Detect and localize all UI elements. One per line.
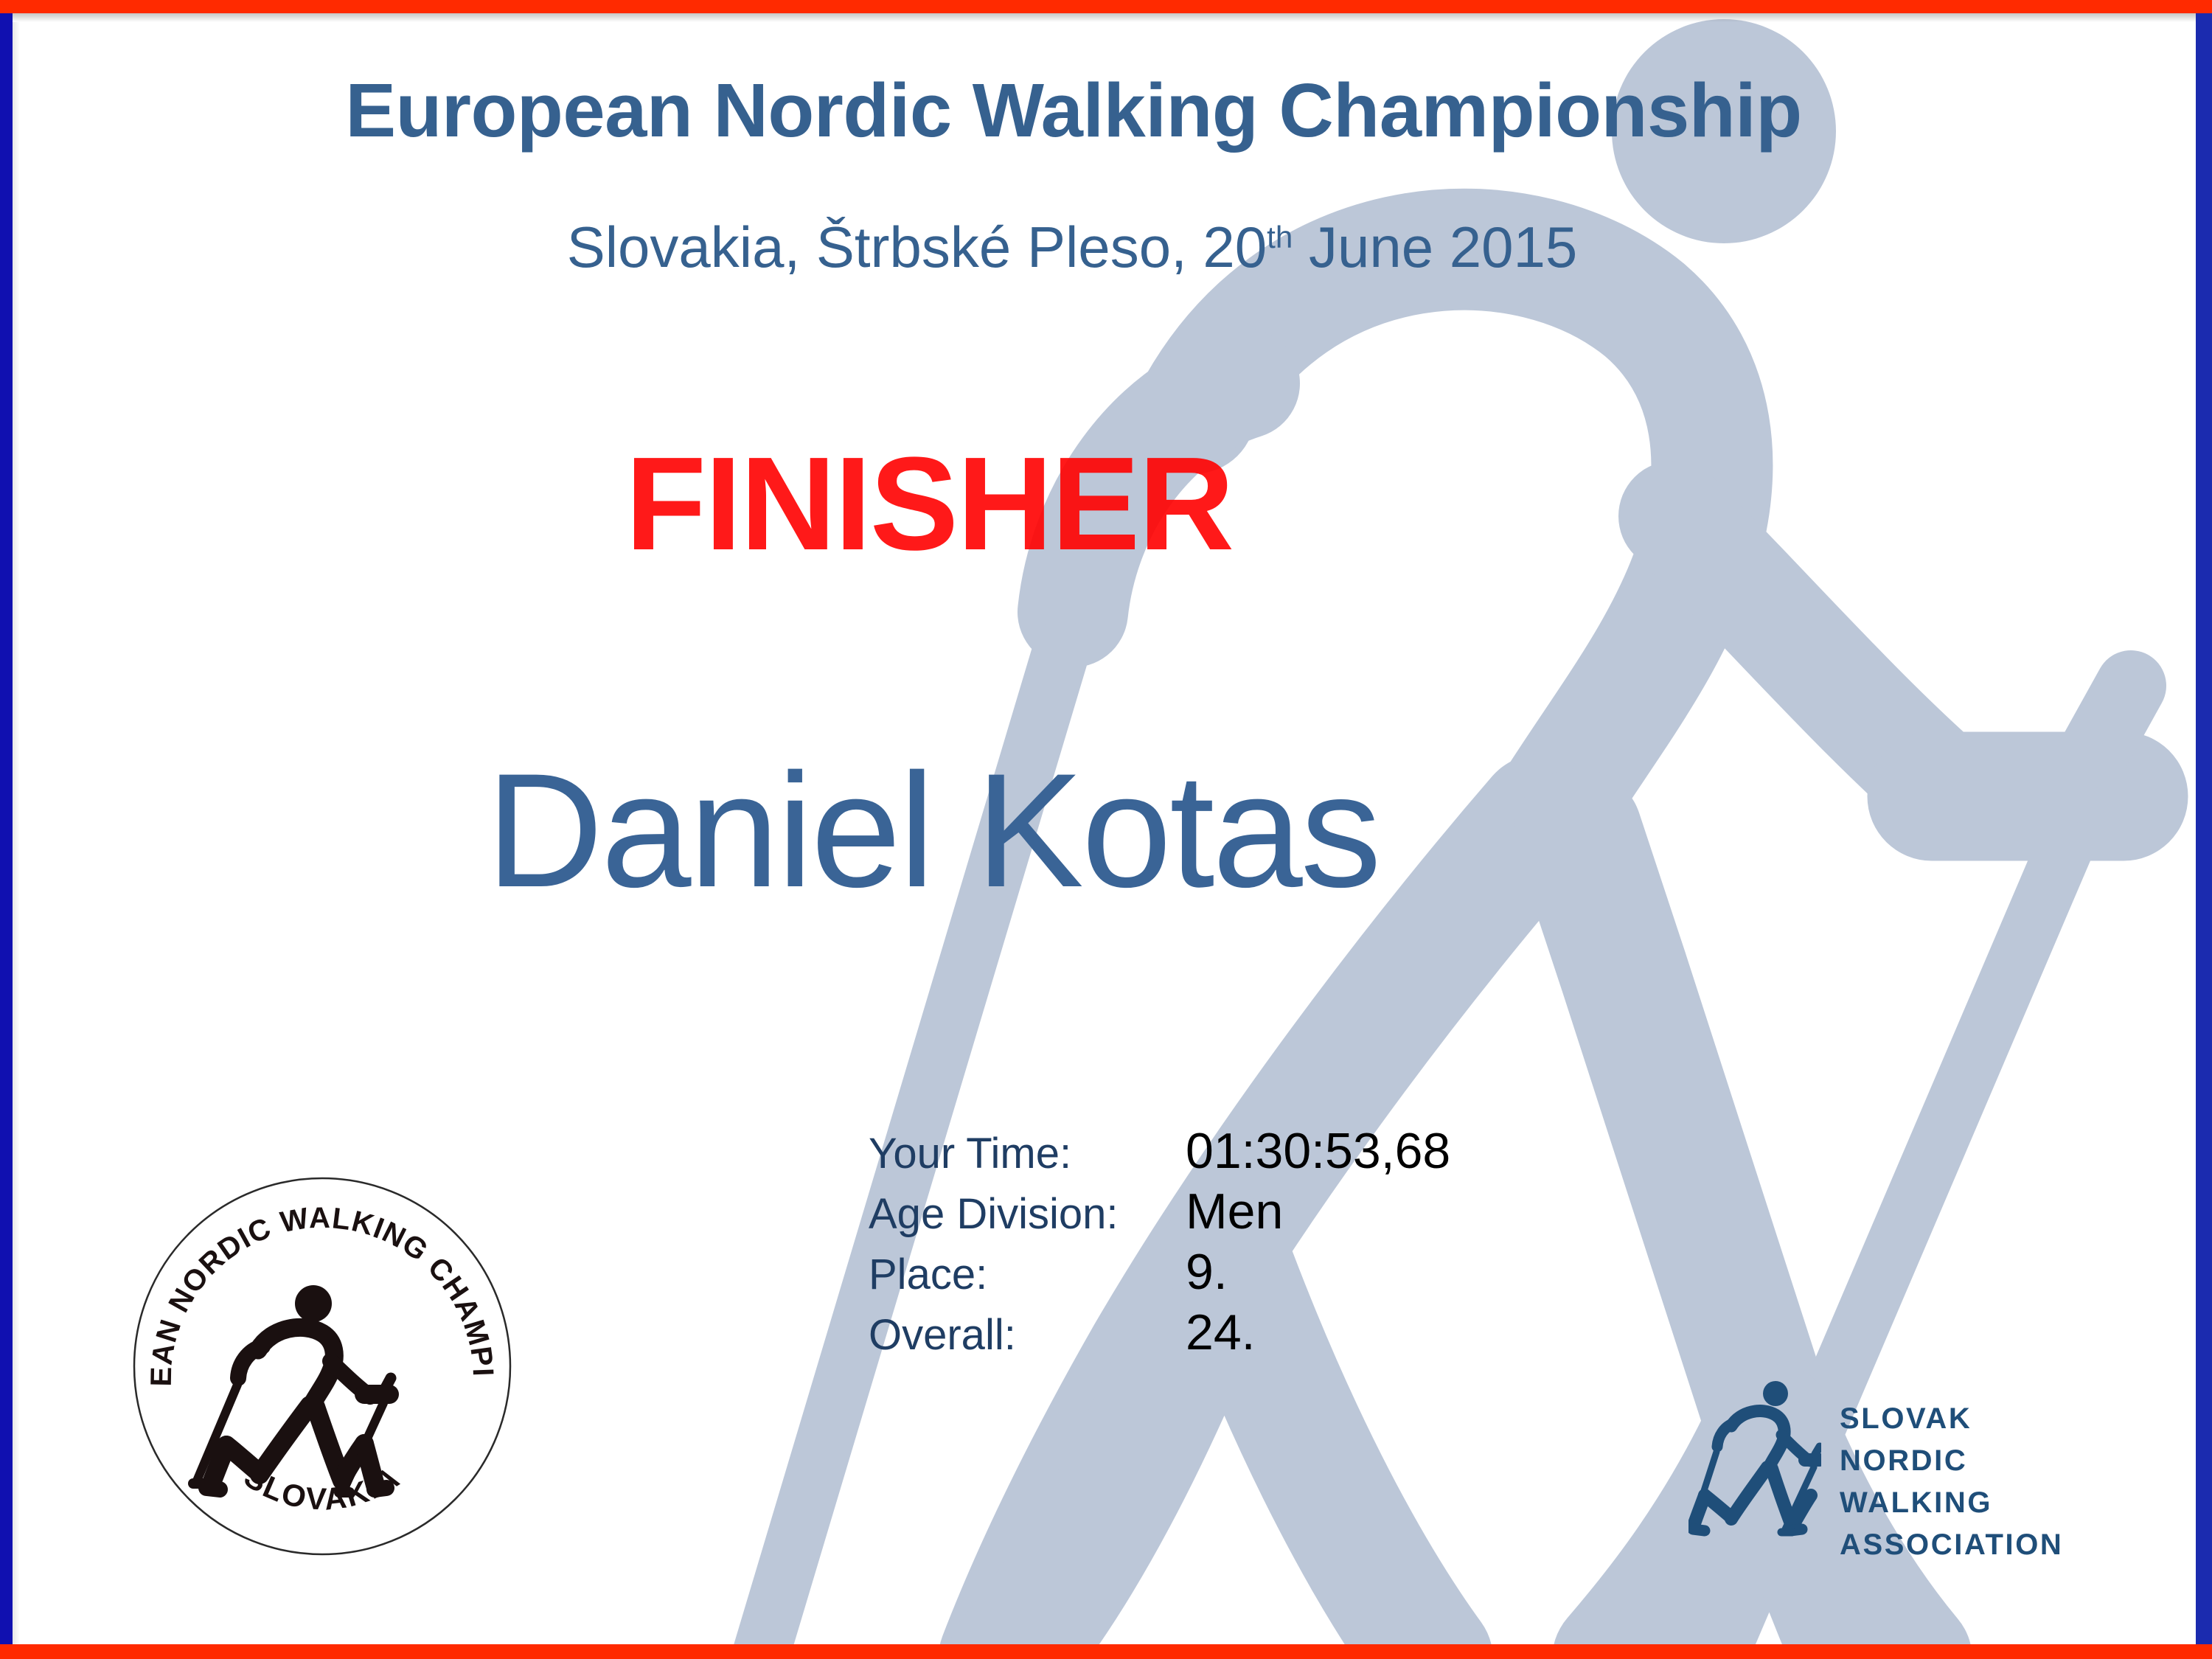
association-logo: SLOVAK NORDIC WALKING ASSOCIATION xyxy=(1688,1373,2124,1557)
result-label-your-time: Your Time: xyxy=(869,1124,1186,1183)
result-value-overall: 24. xyxy=(1186,1304,1450,1362)
event-location-date-prefix: Slovakia, Štrbské Pleso, 20 xyxy=(567,215,1267,279)
result-value-your-time: 01:30:53,68 xyxy=(1186,1122,1450,1180)
event-location-date: Slovakia, Štrbské Pleso, 20th June 2015 xyxy=(0,214,2212,281)
association-name-line2: NORDIC WALKING xyxy=(1840,1440,2124,1524)
athlete-name: Daniel Kotas xyxy=(0,737,2212,924)
result-label-place: Place: xyxy=(869,1245,1186,1304)
association-name-line3: ASSOCIATION xyxy=(1840,1524,2124,1566)
result-value-place: 9. xyxy=(1186,1243,1450,1301)
logo-walker-head xyxy=(295,1285,332,1322)
result-label-overall: Overall: xyxy=(869,1306,1186,1364)
event-date-ordinal: th xyxy=(1267,220,1293,254)
result-label-age-division: Age Division: xyxy=(869,1185,1186,1243)
championship-title: European Nordic Walking Championship xyxy=(0,71,2212,150)
association-name: SLOVAK NORDIC WALKING ASSOCIATION xyxy=(1840,1398,2124,1566)
association-walker-head xyxy=(1763,1381,1788,1406)
event-date-suffix: June 2015 xyxy=(1293,215,1577,279)
finisher-certificate: European Nordic Walking Championship Slo… xyxy=(0,0,2212,1659)
result-value-age-division: Men xyxy=(1186,1183,1450,1241)
championship-round-logo: EUROPEAN NORDIC WALKING CHAMPIONSHIP SLO… xyxy=(127,1171,518,1562)
association-walker-icon xyxy=(1688,1373,1821,1546)
association-name-line1: SLOVAK xyxy=(1840,1398,2124,1440)
award-label: FINISHER xyxy=(0,428,2212,580)
results-table: Your Time: 01:30:53,68 Age Division: Men… xyxy=(869,1122,1450,1364)
